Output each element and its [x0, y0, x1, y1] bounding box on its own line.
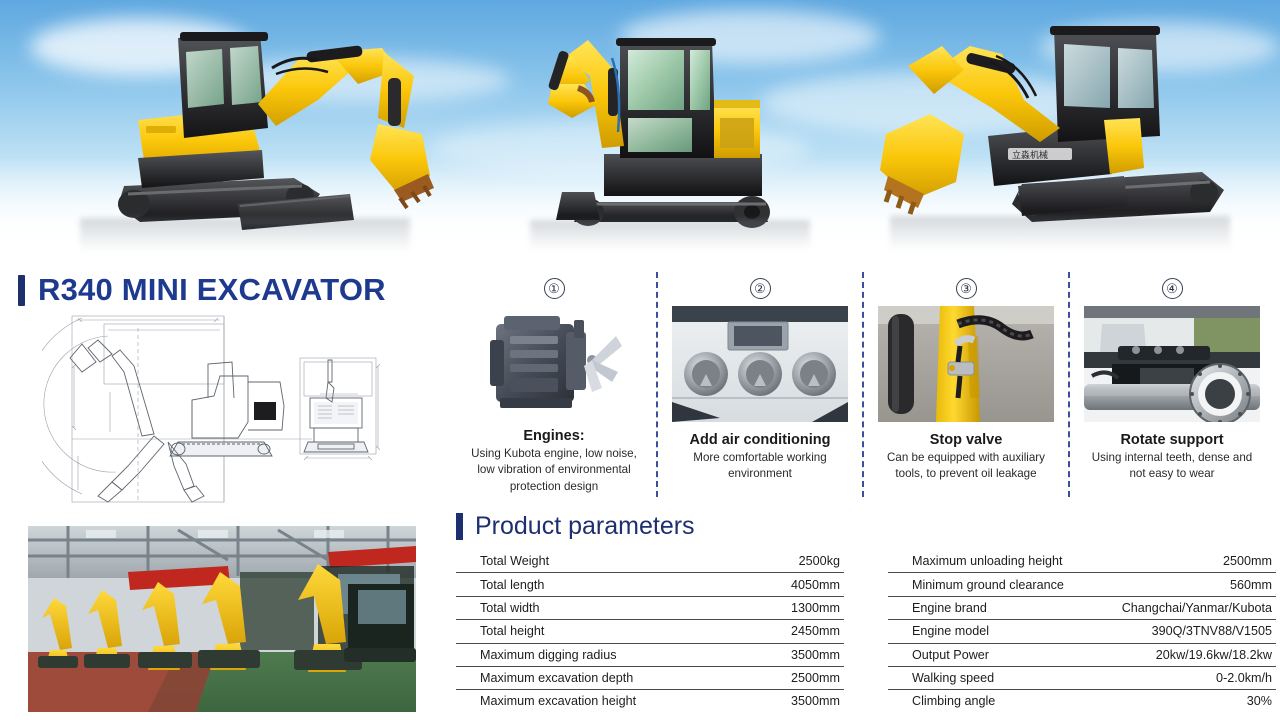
- feature-panel-rotate-support: ④: [1068, 272, 1274, 497]
- parameter-value: 1300mm: [757, 596, 844, 619]
- parameters-tables: Total Weight2500kgTotal length4050mmTota…: [456, 550, 1276, 713]
- feature-panel-air-conditioning: ②: [656, 272, 862, 497]
- reflection: [890, 216, 1230, 250]
- feature-title-3: Stop valve: [930, 432, 1003, 448]
- table-row: Maximum unloading height2500mm: [888, 550, 1276, 573]
- parameter-value: 2450mm: [757, 620, 844, 643]
- feature-number-1: ①: [544, 278, 565, 299]
- parameter-value: 560mm: [1096, 573, 1276, 596]
- parameter-value: 3500mm: [757, 643, 844, 666]
- parameter-value: Changchai/Yanmar/Kubota: [1096, 596, 1276, 619]
- page-title: R340 MINI EXCAVATOR: [18, 272, 386, 308]
- feature-body-2: More comfortable working environment: [674, 450, 846, 483]
- parameters-table-right: Maximum unloading height2500mmMinimum gr…: [888, 550, 1276, 713]
- table-row: Maximum excavation height3500mm: [456, 690, 844, 713]
- feature-number-3: ③: [956, 278, 977, 299]
- parameter-label: Total width: [456, 596, 757, 619]
- product-parameters-heading: Product parameters: [456, 512, 695, 541]
- table-body-left: Total Weight2500kgTotal length4050mmTota…: [456, 550, 844, 713]
- parameter-label: Maximum digging radius: [456, 643, 757, 666]
- parameter-label: Engine model: [888, 620, 1096, 643]
- table-row: Walking speed0-2.0km/h: [888, 666, 1276, 689]
- parameter-value: 2500mm: [757, 666, 844, 689]
- table-body-right: Maximum unloading height2500mmMinimum gr…: [888, 550, 1276, 713]
- parameters-table-left: Total Weight2500kgTotal length4050mmTota…: [456, 550, 844, 713]
- parameter-value: 4050mm: [757, 573, 844, 596]
- parameter-label: Total length: [456, 573, 757, 596]
- table-row: Maximum excavation depth2500mm: [456, 666, 844, 689]
- table-row: Maximum digging radius3500mm: [456, 643, 844, 666]
- parameter-value: 20kw/19.6kw/18.2kw: [1096, 643, 1276, 666]
- table-row: Total length4050mm: [456, 573, 844, 596]
- stop-valve-photo: [878, 306, 1054, 422]
- parameter-value: 2500mm: [1096, 550, 1276, 573]
- parameter-value: 390Q/3TNV88/V1505: [1096, 620, 1276, 643]
- parameters-title-label: Product parameters: [475, 512, 695, 541]
- table-row: Engine model390Q/3TNV88/V1505: [888, 620, 1276, 643]
- table-row: Engine brandChangchai/Yanmar/Kubota: [888, 596, 1276, 619]
- parameter-value: 0-2.0km/h: [1096, 666, 1276, 689]
- feature-panel-stop-valve: ③: [862, 272, 1068, 497]
- factory-production-line-photo: [28, 526, 416, 712]
- table-row: Minimum ground clearance560mm: [888, 573, 1276, 596]
- parameter-label: Total Weight: [456, 550, 757, 573]
- parameter-value: 2500kg: [757, 550, 844, 573]
- table-row: Climbing angle30%: [888, 690, 1276, 713]
- parameter-label: Maximum excavation height: [456, 690, 757, 713]
- feature-body-3: Can be equipped with auxiliary tools, to…: [880, 450, 1052, 483]
- rotate-support-photo: [1084, 306, 1260, 422]
- parameters-accent-bar: [456, 513, 463, 540]
- parameter-label: Output Power: [888, 643, 1096, 666]
- feature-body-4: Using internal teeth, dense and not easy…: [1086, 450, 1258, 483]
- feature-number-4: ④: [1162, 278, 1183, 299]
- engine-photo: [466, 306, 642, 422]
- feature-number-2: ②: [750, 278, 771, 299]
- parameter-label: Climbing angle: [888, 690, 1096, 713]
- feature-panels: ①: [452, 272, 1274, 497]
- table-row: Total height2450mm: [456, 620, 844, 643]
- reflection: [530, 220, 810, 250]
- parameter-label: Minimum ground clearance: [888, 573, 1096, 596]
- parameter-label: Maximum excavation depth: [456, 666, 757, 689]
- table-row: Total width1300mm: [456, 596, 844, 619]
- parameter-label: Total height: [456, 620, 757, 643]
- title-accent-bar: [18, 275, 25, 306]
- parameter-label: Maximum unloading height: [888, 550, 1096, 573]
- parameter-label: Walking speed: [888, 666, 1096, 689]
- air-conditioning-controls-photo: [672, 306, 848, 422]
- reflection: [80, 218, 410, 252]
- product-spec-sheet: 立淼机械 R340 MINI EXCAVATOR: [0, 0, 1280, 720]
- parameter-value: 30%: [1096, 690, 1276, 713]
- feature-title-2: Add air conditioning: [690, 432, 831, 448]
- table-row: Output Power20kw/19.6kw/18.2kw: [888, 643, 1276, 666]
- dimension-drawing: [42, 306, 442, 506]
- parameter-value: 3500mm: [757, 690, 844, 713]
- hero-banner: 立淼机械: [0, 0, 1280, 262]
- feature-title-1: Engines:: [523, 428, 584, 444]
- table-row: Total Weight2500kg: [456, 550, 844, 573]
- feature-panel-engines: ①: [452, 272, 656, 497]
- feature-title-4: Rotate support: [1120, 432, 1223, 448]
- title-label: R340 MINI EXCAVATOR: [38, 272, 386, 308]
- feature-body-1: Using Kubota engine, low noise, low vibr…: [468, 446, 640, 495]
- svg-text:立淼机械: 立淼机械: [1012, 149, 1048, 160]
- parameter-label: Engine brand: [888, 596, 1096, 619]
